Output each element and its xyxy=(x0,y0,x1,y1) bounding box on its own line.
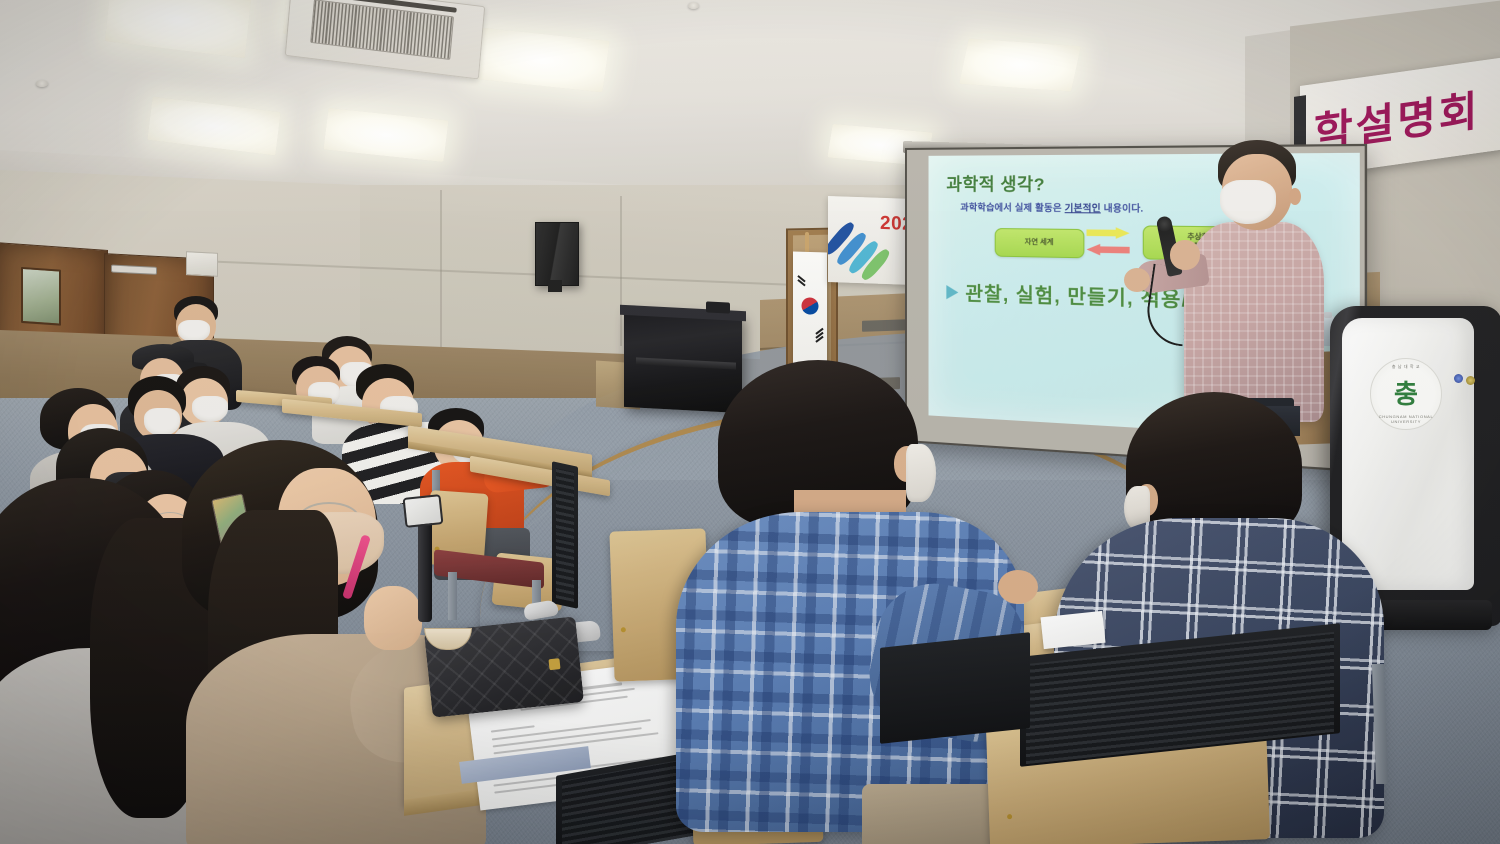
taeguk-circle xyxy=(798,295,821,318)
presenter-hand-gesture xyxy=(1124,268,1150,292)
handout-paper xyxy=(1040,611,1105,649)
status-led-amber xyxy=(1466,376,1475,385)
cable-tray-slats xyxy=(556,468,574,602)
desk-underframe xyxy=(880,632,1030,744)
slide-bullet-arrow-icon xyxy=(946,285,958,299)
door-handle[interactable] xyxy=(111,264,157,274)
lecture-hall-photo: 2023학 학설명회 과학적 생각? 과학학습에서 실제 활동은 기본적인 내용… xyxy=(0,0,1500,844)
wall-notice-sign xyxy=(186,251,218,277)
man-hand xyxy=(998,570,1038,604)
ceiling-light-panel xyxy=(959,38,1081,91)
presenter-hand-holding-mic xyxy=(1170,240,1200,270)
paper-text-line xyxy=(491,725,535,732)
slide-arrow-forward-icon xyxy=(1087,227,1130,239)
slide-subtitle-part2: 내용이다. xyxy=(1101,203,1144,214)
emblem-top-text: 충 남 대 학 교 xyxy=(1371,364,1441,370)
status-led-blue xyxy=(1454,374,1463,383)
metronome-icon xyxy=(706,301,730,313)
presenter-ear xyxy=(1289,188,1301,205)
presenter-face-mask-icon xyxy=(1220,180,1276,224)
man-blue-plaid-shirt xyxy=(676,360,1036,844)
korean-flag-icon xyxy=(793,252,827,371)
chair-leg xyxy=(448,572,457,620)
wall-speaker-icon xyxy=(535,222,579,286)
face-mask-icon xyxy=(906,444,936,502)
woman-hand xyxy=(364,586,422,650)
slide-subtitle-part1: 과학학습에서 실제 활동은 xyxy=(960,202,1064,213)
smoke-detector-icon xyxy=(688,2,699,9)
door-window xyxy=(21,267,61,326)
wall-seam xyxy=(620,196,622,346)
chair-screw xyxy=(621,627,626,632)
slide-arrow-back-icon xyxy=(1087,244,1130,256)
chair-screw xyxy=(1007,814,1012,819)
bag-clasp-icon xyxy=(548,658,560,670)
slide-subtitle-underline: 기본적인 xyxy=(1065,203,1101,214)
slide-box-natural-world: 자연 세계 xyxy=(995,228,1085,258)
smoke-detector-icon xyxy=(36,80,48,87)
smartphone[interactable] xyxy=(403,494,444,528)
presenter xyxy=(1176,140,1336,430)
wall-vent xyxy=(862,319,908,332)
face-mask-icon xyxy=(178,320,210,342)
speaker-mount xyxy=(548,280,562,292)
